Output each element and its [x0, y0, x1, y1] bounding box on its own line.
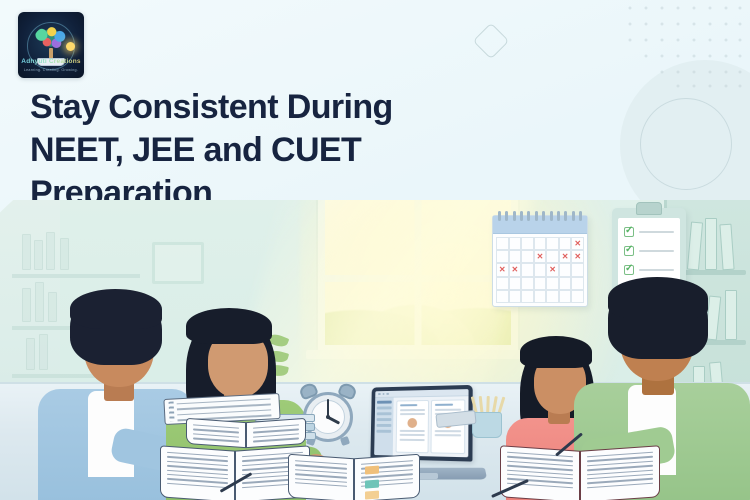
clock-dial [311, 400, 345, 434]
brand-logo[interactable]: Adhyuti Creations Learning. Creating. Gr… [18, 12, 84, 78]
headline-line-2: NEET, JEE and CUET [30, 129, 500, 172]
pen-cup-holder [472, 412, 502, 438]
checklist-item [624, 265, 674, 275]
dot-grid-pattern-right [626, 4, 744, 90]
calendar-rings [498, 211, 582, 221]
screen-sidebar-nav [374, 398, 394, 456]
wall-picture-frame [152, 242, 204, 284]
notebook-spiral [169, 402, 175, 422]
checkbox-checked-icon [624, 227, 634, 237]
promo-banner: Adhyuti Creations Learning. Creating. Gr… [0, 0, 750, 500]
screen-avatar [407, 418, 417, 428]
open-textbook-right [500, 448, 660, 500]
logo-brand-name: Adhyuti Creations [18, 58, 84, 65]
decorative-diamond-icon [473, 23, 510, 60]
logo-bulb-icon [66, 42, 75, 51]
study-scene-illustration [0, 200, 750, 500]
checklist-item [624, 246, 674, 256]
checkbox-checked-icon [624, 246, 634, 256]
screen-card [396, 400, 429, 453]
pen-cup [472, 394, 502, 438]
page-title: Stay Consistent During NEET, JEE and CUE… [30, 86, 500, 214]
checklist-item [624, 227, 674, 237]
decorative-circle-outline [640, 98, 732, 190]
logo-brand-tagline: Learning. Creating. Growing. [18, 68, 84, 72]
checkbox-checked-icon [624, 265, 634, 275]
headline-line-1: Stay Consistent During [30, 86, 500, 129]
clipboard-clip-icon [636, 202, 662, 215]
open-textbook-back [186, 420, 306, 446]
open-textbook-center [288, 456, 420, 500]
